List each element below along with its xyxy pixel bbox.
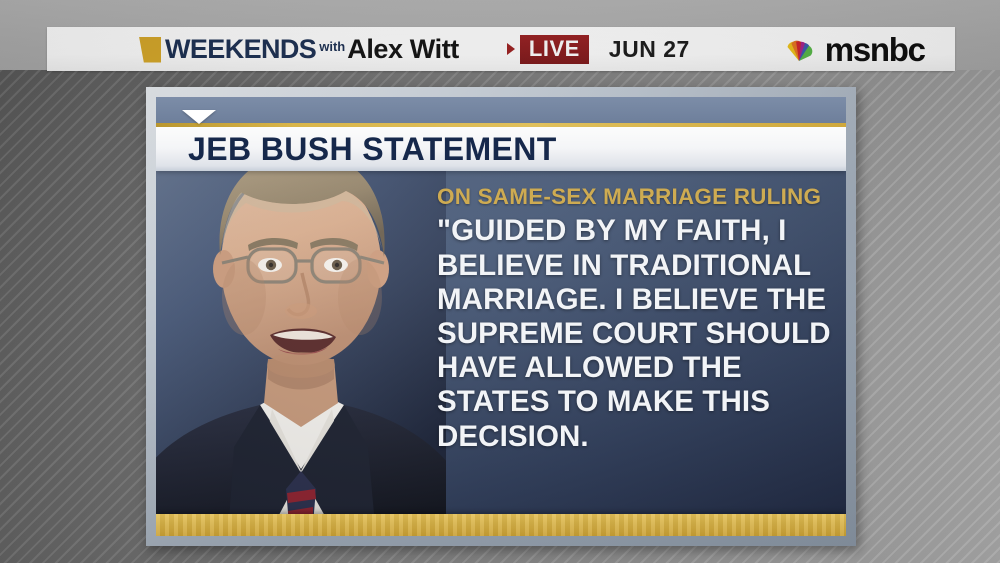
network-branding: msnbc <box>782 33 925 66</box>
panel-bottom-gold-bar <box>156 514 846 536</box>
live-status-group: LIVE JUN 27 <box>507 35 690 64</box>
host-name: Alex Witt <box>347 36 459 63</box>
headline-title: JEB BUSH STATEMENT <box>188 133 557 165</box>
network-name: msnbc <box>825 33 925 66</box>
broadcast-screen: WEEKENDS with Alex Witt LIVE JUN 27 msnb… <box>0 0 1000 563</box>
headline-gold-rule <box>156 123 846 127</box>
network-banner: WEEKENDS with Alex Witt LIVE JUN 27 msnb… <box>47 27 955 71</box>
statement-graphic-panel: JEB BUSH STATEMENT ON SAME-SEX MARRIAGE … <box>146 87 856 546</box>
statement-text-block: ON SAME-SEX MARRIAGE RULING "GUIDED BY M… <box>437 185 837 454</box>
nbc-peacock-icon <box>782 34 816 64</box>
banner-connector: with <box>319 39 345 54</box>
play-triangle-icon <box>507 43 515 55</box>
headline-top-strip <box>156 97 846 123</box>
show-branding: WEEKENDS with Alex Witt <box>139 36 459 63</box>
broadcast-date: JUN 27 <box>609 36 690 63</box>
weekends-logo-mark-icon <box>139 37 161 63</box>
show-name: WEEKENDS <box>165 36 316 63</box>
headline-bar: JEB BUSH STATEMENT <box>156 127 846 171</box>
statement-graphic-inner: JEB BUSH STATEMENT ON SAME-SEX MARRIAGE … <box>156 97 846 536</box>
statement-kicker: ON SAME-SEX MARRIAGE RULING <box>437 185 837 209</box>
live-badge: LIVE <box>520 35 589 64</box>
triangle-pointer-icon <box>182 110 216 124</box>
statement-quote: "GUIDED BY MY FAITH, I BELIEVE IN TRADIT… <box>437 214 837 454</box>
